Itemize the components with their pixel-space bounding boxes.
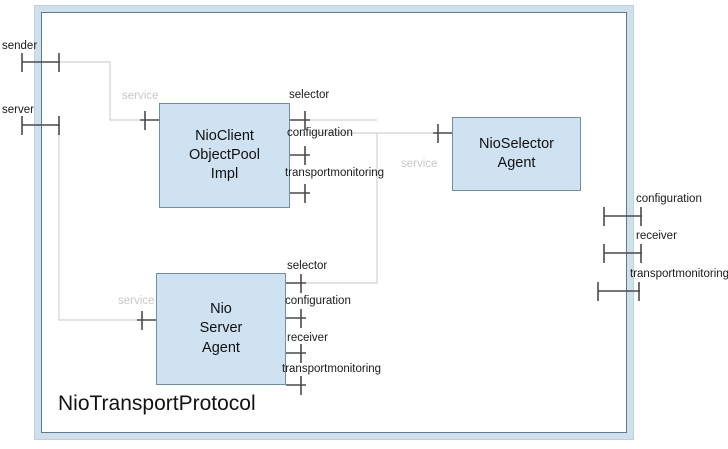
boundary-port-label-server: server xyxy=(2,105,34,117)
frame-title-label: NioTransportProtocol xyxy=(58,392,256,415)
nioserver-port-label-selector: selector xyxy=(287,261,327,273)
diagram-vector-layer xyxy=(0,0,728,449)
nioserver-port-label-configuration: configuration xyxy=(285,296,351,308)
nioserver-port-label-transportmonitoring: transportmonitoring xyxy=(282,364,381,376)
nioserver-port-label-receiver: receiver xyxy=(287,333,328,345)
component-name-label: Nio Server Agent xyxy=(200,300,243,357)
nioclient-port-label-service: service xyxy=(122,91,158,103)
nioserver-port-label-service: service xyxy=(118,296,154,308)
component-nio-server-agent[interactable]: Nio Server Agent xyxy=(156,273,286,385)
nioclient-port-label-configuration: configuration xyxy=(287,128,353,140)
component-name-label: NioClient ObjectPool Impl xyxy=(189,127,260,184)
component-nio-selector-agent[interactable]: NioSelector Agent xyxy=(452,117,581,191)
component-diagram-canvas: NioClient ObjectPool Impl NioSelector Ag… xyxy=(0,0,728,449)
boundary-port-label-sender: sender xyxy=(2,41,37,53)
component-name-label: NioSelector Agent xyxy=(479,135,554,173)
nioselector-port-label-service: service xyxy=(401,159,437,171)
boundary-port-label-receiver: receiver xyxy=(636,231,677,243)
nioclient-port-label-selector: selector xyxy=(289,90,329,102)
nioclient-port-label-transportmonitoring: transportmonitoring xyxy=(285,168,384,180)
component-nio-client-object-pool-impl[interactable]: NioClient ObjectPool Impl xyxy=(159,103,290,208)
boundary-port-label-configuration: configuration xyxy=(636,194,702,206)
boundary-port-label-transportmonitoring: transportmonitoring xyxy=(630,269,728,281)
